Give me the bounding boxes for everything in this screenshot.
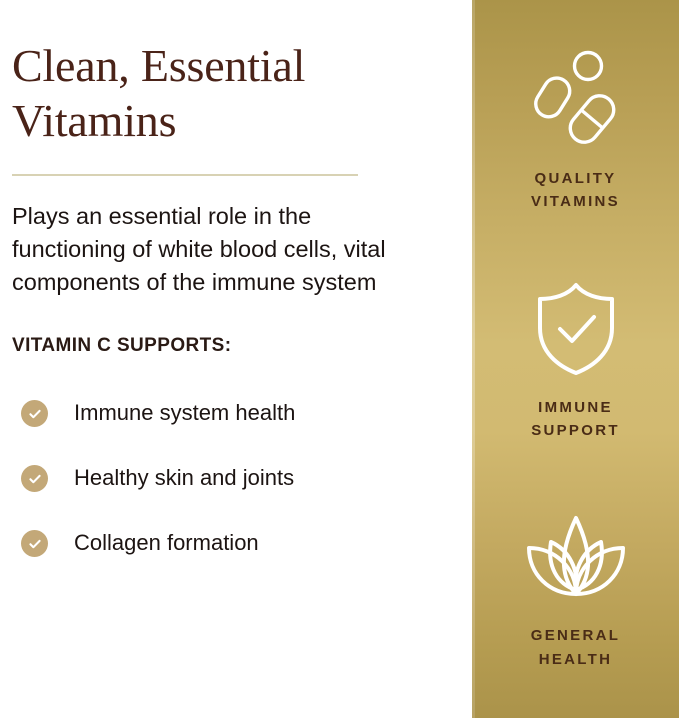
feature-label: IMMUNE SUPPORT (531, 396, 620, 443)
check-circle-icon (21, 530, 48, 557)
feature-label: QUALITY VITAMINS (531, 167, 620, 214)
page-title: Clean, Essential Vitamins (12, 0, 452, 148)
pills-icon (524, 47, 628, 151)
list-item: Collagen formation (12, 511, 452, 576)
lotus-flower-icon (521, 504, 631, 608)
check-circle-icon (21, 465, 48, 492)
feature-immune-support: IMMUNE SUPPORT (472, 276, 679, 443)
check-circle-icon (21, 400, 48, 427)
list-item: Immune system health (12, 381, 452, 446)
list-item: Healthy skin and joints (12, 446, 452, 511)
feature-label: GENERAL HEALTH (531, 624, 620, 671)
feature-quality-vitamins: QUALITY VITAMINS (472, 47, 679, 214)
list-item-label: Immune system health (74, 400, 295, 426)
list-item-label: Healthy skin and joints (74, 465, 294, 491)
benefits-list: Immune system health Healthy skin and jo… (12, 357, 452, 576)
content-column: Clean, Essential Vitamins Plays an essen… (0, 0, 472, 718)
feature-general-health: GENERAL HEALTH (472, 504, 679, 671)
shield-check-icon (528, 276, 624, 380)
list-item-label: Collagen formation (74, 530, 259, 556)
supports-heading: VITAMIN C SUPPORTS: (12, 299, 452, 357)
intro-paragraph: Plays an essential role in the functioni… (12, 176, 392, 299)
feature-panel: QUALITY VITAMINS IMMUNE SUPPORT (472, 0, 679, 718)
